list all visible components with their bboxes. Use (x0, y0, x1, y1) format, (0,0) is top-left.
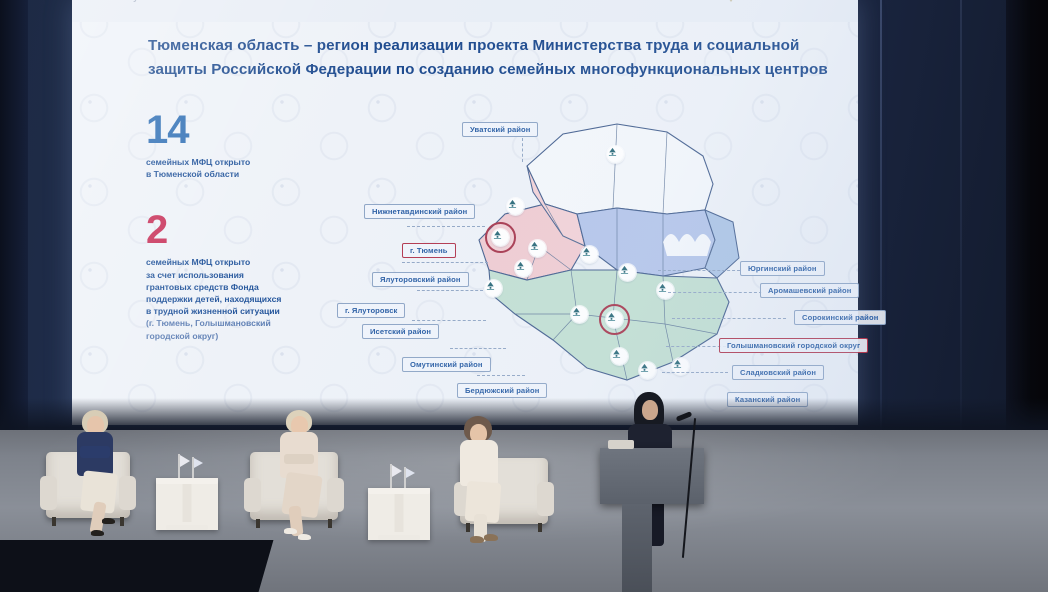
leader-line (668, 292, 762, 293)
stat-description-14: семейных МФЦ открыто в Тюменской области (146, 156, 336, 180)
slide-stats-panel: 14 семейных МФЦ открыто в Тюменской обла… (146, 110, 336, 342)
stat-desc-line: грантовых средств Фонда (146, 281, 336, 293)
leader-line (658, 270, 740, 271)
mfc-badge-marker[interactable] (611, 348, 628, 365)
stage-front-edge (0, 540, 273, 592)
leader-line (412, 320, 486, 321)
stat-desc-line: в Тюменской области (146, 168, 336, 180)
mfc-badge-marker[interactable] (581, 246, 598, 263)
map-label-yalutorovsk-city[interactable]: г. Ялуторовск (337, 303, 405, 318)
leader-line (672, 318, 786, 319)
leader-line (407, 226, 485, 227)
map-label-uvatsky[interactable]: Уватский район (462, 122, 538, 137)
leader-line (477, 375, 525, 376)
stat-desc-line: за счет использования (146, 269, 336, 281)
wall-left-shadow (0, 0, 28, 430)
map-label-aromashevsky[interactable]: Аромашевский район (760, 283, 859, 298)
mfc-badge-marker-golyshmanovo[interactable] (606, 311, 623, 328)
stat-block-2: 2 семейных МФЦ открыто за счет использов… (146, 210, 336, 341)
stat-desc-note: городской округ) (146, 330, 336, 342)
leader-line (522, 138, 523, 162)
stat-block-14: 14 семейных МФЦ открыто в Тюменской обла… (146, 110, 336, 180)
map-label-yurginsky[interactable]: Юргинский район (740, 261, 825, 276)
tyumen-region-map (467, 118, 767, 410)
mfc-badge-marker[interactable] (571, 306, 588, 323)
stat-number-2: 2 (146, 210, 336, 250)
zone-uvat (527, 124, 713, 214)
mfc-badge-marker[interactable] (657, 282, 674, 299)
slide-title: Тюменская область – регион реализации пр… (148, 34, 848, 81)
mfc-badge-marker[interactable] (639, 362, 656, 379)
stat-desc-line: поддержки детей, находящихся (146, 293, 336, 305)
mfc-badge-marker[interactable] (485, 280, 502, 297)
leader-line (450, 348, 506, 349)
map-label-nizhnetavdinsky[interactable]: Нижнетавдинский район (364, 204, 475, 219)
map-label-tyumen[interactable]: г. Тюмень (402, 243, 456, 258)
mfc-badge-marker-tyumen[interactable] (492, 229, 509, 246)
wall-seam-2 (960, 0, 962, 430)
table-flags-icon (170, 452, 206, 480)
wall-right-shadow (1006, 0, 1048, 430)
forum-logo-text: Ñåìüÿ Ôîðóì (112, 0, 166, 2)
panelist-center (268, 410, 340, 552)
coat-of-arms-icon (722, 0, 740, 6)
slide-top-cutoff-strip: Ñåìüÿ Ôîðóì (72, 0, 858, 22)
lap-folder (284, 454, 314, 464)
projection-screen: Ñåìüÿ Ôîðóì Тюменская область – регион р… (72, 0, 858, 425)
mfc-badge-marker[interactable] (619, 264, 636, 281)
map-label-yalutorovsky[interactable]: Ялуторовский район (372, 272, 469, 287)
leader-line (666, 346, 726, 347)
map-label-sladkovsky[interactable]: Сладковский район (732, 365, 824, 380)
map-label-sorokinsky[interactable]: Сорокинский район (794, 310, 886, 325)
panelist-left (66, 410, 136, 550)
side-table-right (368, 488, 430, 540)
stat-number-14: 14 (146, 110, 336, 150)
leader-line (402, 262, 488, 263)
mfc-badge-marker[interactable] (607, 146, 624, 163)
stat-desc-line: семейных МФЦ открыто (146, 256, 336, 268)
mfc-badge-marker[interactable] (515, 260, 532, 277)
map-label-golyshmanovo[interactable]: Голышмановский городской округ (719, 338, 868, 353)
mfc-badge-marker[interactable] (529, 240, 546, 257)
leader-line (417, 290, 483, 291)
panelist-right (448, 416, 520, 556)
stat-desc-line: в трудной жизненной ситуации (146, 305, 336, 317)
stat-desc-note: (г. Тюмень, Голышмановский (146, 317, 336, 329)
map-label-omutinsky[interactable]: Омутинский район (402, 357, 491, 372)
stat-desc-line: семейных МФЦ открыто (146, 156, 336, 168)
lap-folder (80, 446, 110, 458)
leader-line (662, 372, 728, 373)
stat-description-2: семейных МФЦ открыто за счет использован… (146, 256, 336, 341)
wall-seam (880, 0, 882, 430)
conference-hall-scene: Ñåìüÿ Ôîðóì Тюменская область – регион р… (0, 0, 1048, 592)
papers-on-lectern (608, 440, 634, 449)
table-flags-icon-2 (382, 462, 418, 490)
mfc-badge-marker[interactable] (507, 198, 524, 215)
map-label-berdyuzhsky[interactable]: Бердюжский район (457, 383, 547, 398)
crown-watermark (663, 234, 711, 256)
side-table-left (156, 478, 218, 530)
map-label-isetsky[interactable]: Исетский район (362, 324, 439, 339)
